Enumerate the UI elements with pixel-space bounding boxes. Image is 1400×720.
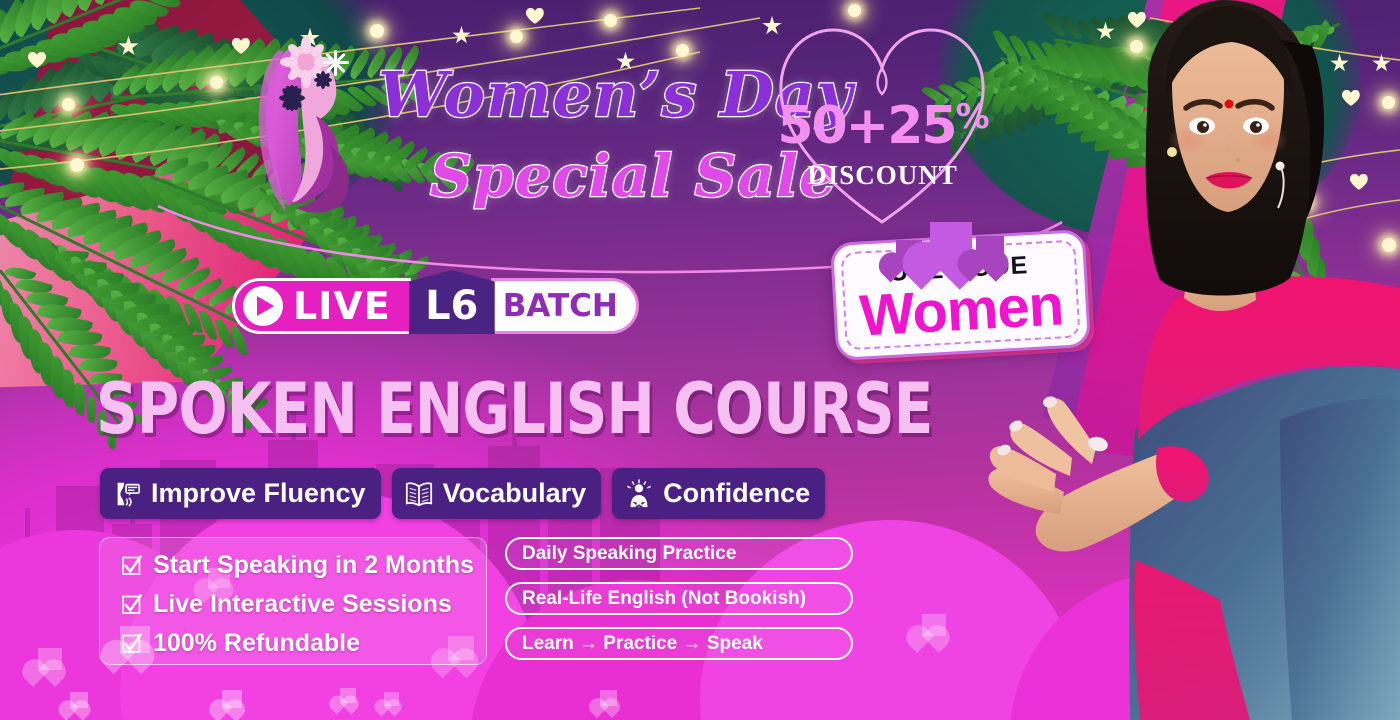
leaf-frond <box>0 17 256 185</box>
checklist-label: Live Interactive Sessions <box>153 590 452 619</box>
heart-icon-decor <box>70 692 88 708</box>
heart-icon-decor <box>922 614 946 636</box>
promo-code-value: Women <box>835 275 1087 347</box>
checkbox-checked-icon <box>122 633 142 653</box>
woman-presenter-photo <box>980 0 1400 720</box>
woman-silhouette-icon <box>248 28 388 218</box>
live-chip[interactable]: LIVE <box>232 278 411 334</box>
heart-icon-decor <box>38 648 62 670</box>
heart-icon-decor <box>340 688 356 703</box>
benefit-pill[interactable]: Learn → Practice → Speak <box>505 627 853 660</box>
benefit-pill-list: Daily Speaking Practice Real-Life Englis… <box>505 537 853 660</box>
checklist-item: Live Interactive Sessions <box>122 586 486 622</box>
open-book-icon <box>404 479 434 509</box>
checklist-label: 100% Refundable <box>153 629 360 658</box>
checkbox-checked-icon <box>122 555 142 575</box>
feature-label: Vocabulary <box>443 478 587 509</box>
leaf-frond <box>0 0 221 106</box>
page-title: SPOKEN ENGLISH COURSE <box>96 374 932 444</box>
live-label: LIVE <box>293 287 391 325</box>
discount-amount: 50+25% <box>775 100 990 152</box>
level-badge: L6 <box>409 270 495 334</box>
live-batch-badge[interactable]: LIVE L6 BATCH <box>232 278 639 334</box>
discount-badge: 50+25% DISCOUNT <box>775 22 990 232</box>
discount-label: DISCOUNT <box>775 160 990 191</box>
batch-label: BATCH <box>491 278 639 334</box>
person-star-icon <box>624 479 654 509</box>
checklist-label: Start Speaking in 2 Months <box>153 551 474 580</box>
checklist-item: 100% Refundable <box>122 625 486 661</box>
checklist-item: Start Speaking in 2 Months <box>122 547 486 583</box>
checkbox-checked-icon <box>122 594 142 614</box>
heart-icon-decor <box>600 690 617 706</box>
feature-label: Improve Fluency <box>151 478 366 509</box>
feature-pill-confidence[interactable]: Confidence <box>612 468 825 519</box>
benefit-label: Real-Life English (Not Bookish) <box>522 588 806 610</box>
benefit-label: Learn → Practice → Speak <box>522 633 763 655</box>
feature-pill-improve-fluency[interactable]: Improve Fluency <box>100 468 381 519</box>
speaking-head-icon <box>112 479 142 509</box>
heart-icon-decor <box>384 692 399 706</box>
feature-pill-row: Improve Fluency Vocabulary <box>100 468 825 519</box>
feature-pill-vocabulary[interactable]: Vocabulary <box>392 468 602 519</box>
benefit-label: Daily Speaking Practice <box>522 543 736 565</box>
play-icon[interactable] <box>243 286 283 326</box>
feature-label: Confidence <box>663 478 810 509</box>
checklist-box: Start Speaking in 2 Months Live Interact… <box>99 537 487 665</box>
benefit-pill[interactable]: Daily Speaking Practice <box>505 537 853 570</box>
benefit-pill[interactable]: Real-Life English (Not Bookish) <box>505 582 853 615</box>
heart-icon-decor <box>222 690 242 708</box>
promo-code-card[interactable]: USE CODE Women <box>830 229 1091 361</box>
promo-banner: Women’s Day Special Sale 50+25% DISCOUNT… <box>0 0 1400 720</box>
